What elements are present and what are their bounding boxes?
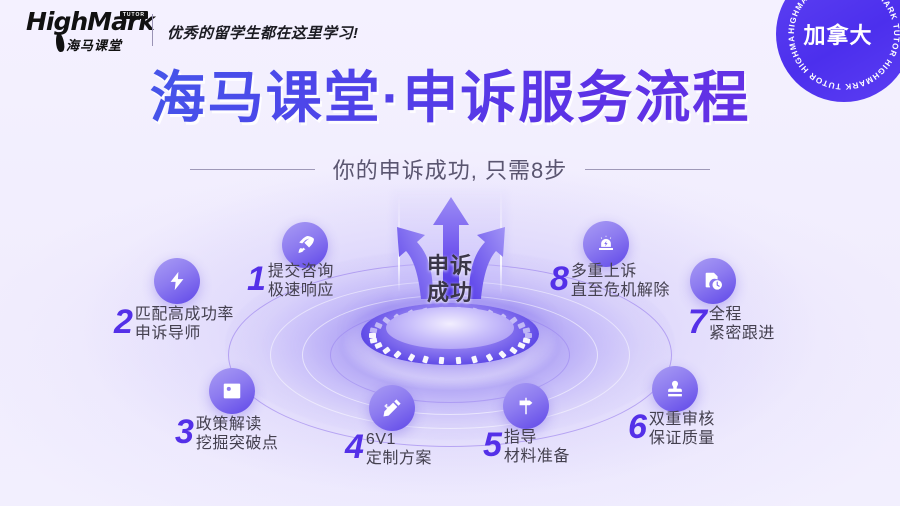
step-5-line2: 材料准备 — [504, 447, 570, 466]
logo-chinese-name: 海马课堂 — [66, 35, 122, 54]
step-4-body: 4 6V1 定制方案 — [345, 430, 432, 468]
clock-document-icon — [690, 258, 736, 304]
platform-core — [355, 294, 545, 374]
step-6-body: 6 双重审核 保证质量 — [628, 410, 715, 448]
infographic-canvas: HighMark TUTOR 海马课堂 优秀的留学生都在这里学习! HIGHMA… — [0, 0, 900, 506]
stamp-icon — [652, 366, 698, 412]
subtitle-rule-right — [585, 169, 710, 170]
step-1-line1: 提交咨询 — [268, 262, 334, 281]
step-8-line2: 直至危机解除 — [571, 281, 670, 300]
header-tagline: 优秀的留学生都在这里学习! — [167, 22, 359, 43]
signpost-icon — [503, 383, 549, 429]
step-6-line2: 保证质量 — [649, 429, 715, 448]
subtitle-rule-left — [190, 169, 315, 170]
step-4-number: 4 — [345, 432, 363, 462]
step-5-line1: 指导 — [504, 428, 570, 447]
step-6-number: 6 — [628, 412, 646, 442]
step-5-number: 5 — [483, 430, 501, 460]
step-8-body: 8 多重上诉 直至危机解除 — [550, 262, 670, 300]
id-card-icon — [209, 368, 255, 414]
step-1-number: 1 — [247, 264, 265, 294]
lightning-icon — [154, 258, 200, 304]
step-2-number: 2 — [114, 307, 132, 337]
step-2-line2: 申诉导师 — [135, 324, 234, 343]
step-1-body: 1 提交咨询 极速响应 — [247, 262, 334, 300]
alarm-icon — [583, 221, 629, 267]
step-7-body: 7 全程 紧密跟进 — [688, 305, 775, 343]
header-divider — [152, 14, 153, 46]
step-4-line1: 6V1 — [366, 430, 432, 449]
step-1-line2: 极速响应 — [268, 281, 334, 300]
subtitle-row: 你的申诉成功, 只需8步 — [0, 153, 900, 185]
step-7-line1: 全程 — [709, 305, 775, 324]
center-label: 申诉 成功 — [393, 252, 507, 306]
step-3-body: 3 政策解读 挖掘突破点 — [175, 415, 278, 453]
country-badge-label: 加拿大 — [790, 18, 886, 50]
logo-tutor-badge: TUTOR — [120, 11, 148, 19]
step-2-body: 2 匹配高成功率 申诉导师 — [114, 305, 234, 343]
header: HighMark TUTOR 海马课堂 优秀的留学生都在这里学习! — [0, 0, 900, 66]
step-8-number: 8 — [550, 264, 568, 294]
step-3-line1: 政策解读 — [196, 415, 279, 434]
page-subtitle: 你的申诉成功, 只需8步 — [333, 153, 567, 185]
core-top-disc — [386, 307, 514, 349]
step-5-body: 5 指导 材料准备 — [483, 428, 570, 466]
step-3-number: 3 — [175, 417, 193, 447]
step-2-line1: 匹配高成功率 — [135, 305, 234, 324]
step-7-number: 7 — [688, 307, 706, 337]
center-label-line1: 申诉 — [393, 252, 507, 279]
step-8-line1: 多重上诉 — [571, 262, 670, 281]
step-7-line2: 紧密跟进 — [709, 324, 775, 343]
step-3-line2: 挖掘突破点 — [196, 434, 279, 453]
pen-ruler-icon — [369, 385, 415, 431]
step-4-line2: 定制方案 — [366, 449, 432, 468]
brand-logo: HighMark TUTOR 海马课堂 — [26, 9, 146, 55]
page-title: 海马课堂·申诉服务流程 — [0, 68, 900, 128]
step-6-line1: 双重审核 — [649, 410, 715, 429]
center-label-line2: 成功 — [393, 279, 507, 306]
